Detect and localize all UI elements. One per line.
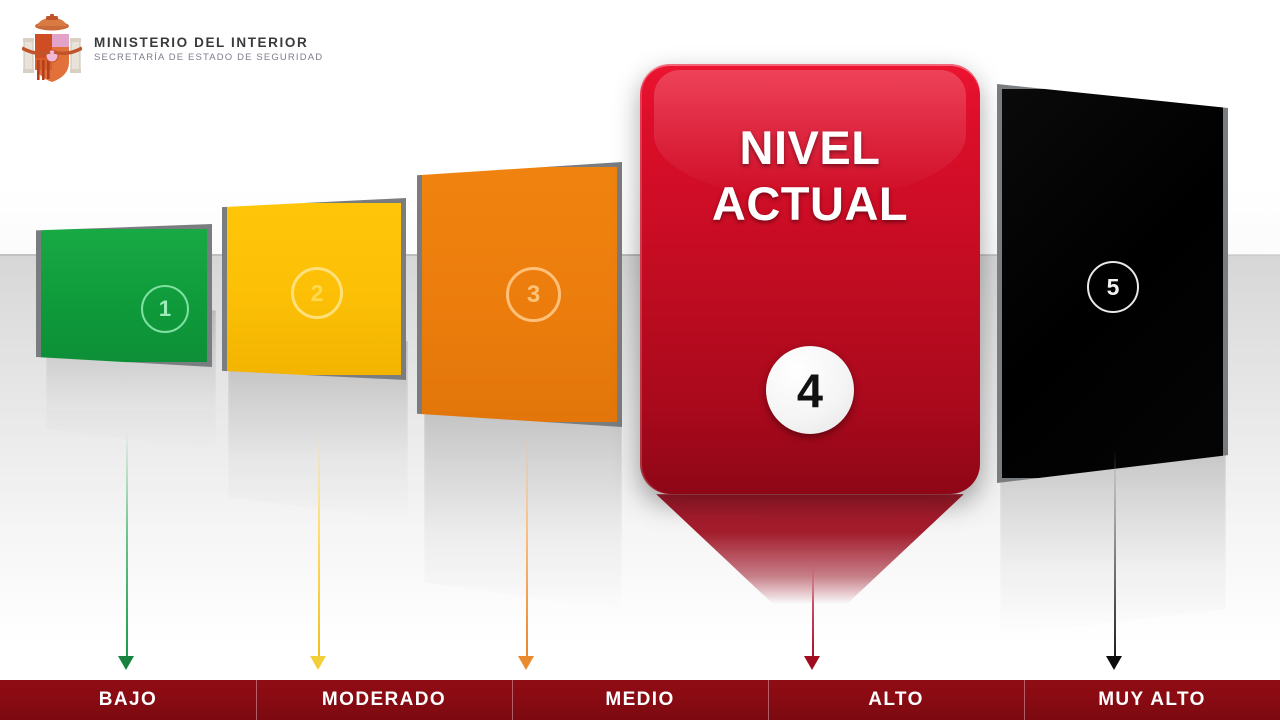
level-panel-4-current[interactable]: NIVEL ACTUAL 4 bbox=[640, 64, 980, 494]
current-level-title-line2: ACTUAL bbox=[640, 176, 980, 232]
leader-line-1 bbox=[126, 430, 128, 658]
level-number-5: 5 bbox=[1087, 261, 1139, 313]
level-panel-2[interactable]: 2 bbox=[222, 198, 406, 380]
level-panel-5-plate: 5 bbox=[997, 84, 1228, 483]
level-panel-3-plate: 3 bbox=[417, 162, 622, 427]
level-number-1: 1 bbox=[141, 285, 189, 333]
ministry-name: MINISTERIO DEL INTERIOR bbox=[94, 36, 323, 50]
legend-item-medio[interactable]: MEDIO bbox=[512, 680, 768, 720]
level-panel-2-plate: 2 bbox=[222, 198, 406, 380]
spanish-coat-of-arms-icon bbox=[22, 14, 82, 92]
leader-line-4 bbox=[812, 560, 814, 658]
level-panel-5[interactable]: 5 bbox=[997, 84, 1228, 483]
level-number-2: 2 bbox=[291, 267, 343, 319]
legend-item-muy-alto[interactable]: MUY ALTO bbox=[1024, 680, 1280, 720]
leader-arrow-5 bbox=[1106, 656, 1122, 670]
current-level-title-line1: NIVEL bbox=[640, 120, 980, 176]
leader-arrow-3 bbox=[518, 656, 534, 670]
level-panel-1[interactable]: 1 bbox=[36, 224, 212, 367]
legend-item-bajo[interactable]: BAJO bbox=[0, 680, 256, 720]
leader-line-2 bbox=[318, 430, 320, 658]
level-number-3: 3 bbox=[506, 267, 561, 322]
level-legend-bar: BAJO MODERADO MEDIO ALTO MUY ALTO bbox=[0, 680, 1280, 720]
leader-line-5 bbox=[1114, 450, 1116, 658]
ministry-text-block: MINISTERIO DEL INTERIOR SECRETARÍA DE ES… bbox=[94, 14, 323, 64]
leader-arrow-1 bbox=[118, 656, 134, 670]
legend-item-moderado[interactable]: MODERADO bbox=[256, 680, 512, 720]
legend-item-alto[interactable]: ALTO bbox=[768, 680, 1024, 720]
level-panel-3[interactable]: 3 bbox=[417, 162, 622, 427]
leader-arrow-2 bbox=[310, 656, 326, 670]
alert-level-diagram: MINISTERIO DEL INTERIOR SECRETARÍA DE ES… bbox=[0, 0, 1280, 720]
ministry-subtitle: SECRETARÍA DE ESTADO DE SEGURIDAD bbox=[94, 52, 323, 64]
current-level-title: NIVEL ACTUAL bbox=[640, 120, 980, 232]
level-panel-1-plate: 1 bbox=[36, 224, 212, 367]
leader-arrow-4 bbox=[804, 656, 820, 670]
current-level-card: NIVEL ACTUAL 4 bbox=[640, 64, 980, 494]
current-level-badge: 4 bbox=[766, 346, 854, 434]
leader-line-3 bbox=[526, 430, 528, 658]
ministry-brand: MINISTERIO DEL INTERIOR SECRETARÍA DE ES… bbox=[22, 14, 323, 92]
